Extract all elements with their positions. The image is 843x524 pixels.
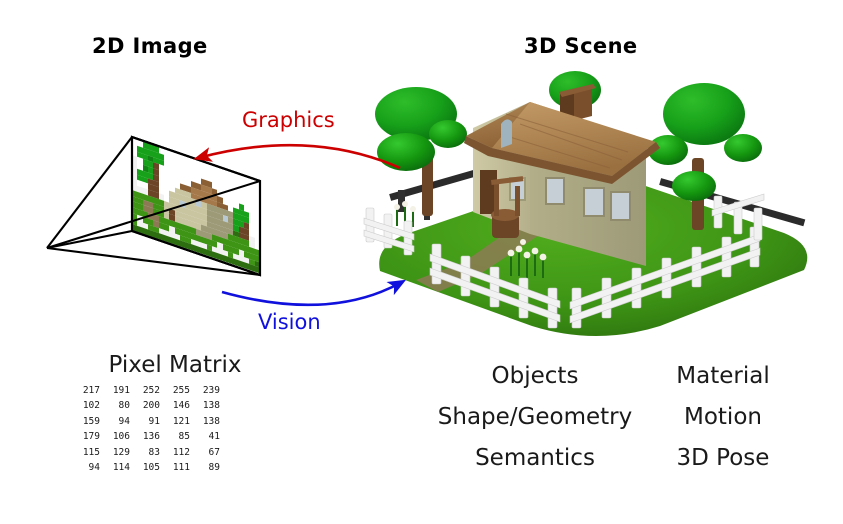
pixel-matrix-table: 2171912522552391028020014613815994911211… — [78, 384, 228, 476]
pixel-matrix-cell: 105 — [138, 461, 168, 476]
scene-property-motion: Motion — [648, 397, 798, 438]
frustum-plane-bottom-edge — [132, 231, 260, 275]
pixel-matrix-cell: 252 — [138, 384, 168, 399]
pixel-matrix-row: 9411410511189 — [78, 461, 228, 476]
pixel-matrix-cell: 94 — [78, 461, 108, 476]
frustum-ray-bottom-right — [47, 248, 260, 275]
window-r1 — [546, 178, 564, 204]
pixel-matrix-cell: 94 — [108, 415, 138, 430]
graphics-arrow-label: Graphics — [242, 108, 335, 132]
pixel-matrix-cell: 114 — [108, 461, 138, 476]
pixel-matrix-row: 1599491121138 — [78, 415, 228, 430]
scene-properties-column-right: MaterialMotion3D Pose — [648, 356, 798, 479]
pixel-matrix-cell: 111 — [168, 461, 198, 476]
pixel-matrix-block: Pixel Matrix 217191252255239102802001461… — [72, 352, 322, 476]
vision-arrow-label: Vision — [258, 310, 321, 334]
pixel-matrix-cell: 115 — [78, 446, 108, 461]
pixel-matrix-cell: 217 — [78, 384, 108, 399]
frustum-far-plane — [132, 137, 260, 275]
pixel-matrix-row: 1151298311267 — [78, 446, 228, 461]
pixel-matrix-cell: 138 — [198, 399, 228, 414]
tree-left — [375, 87, 467, 216]
pixel-matrix-cell: 83 — [138, 446, 168, 461]
pixel-matrix-cell: 136 — [138, 430, 168, 445]
pixel-matrix-cell: 89 — [198, 461, 228, 476]
page-title-3d-scene: 3D Scene — [524, 34, 638, 58]
pixel-matrix-row: 217191252255239 — [78, 384, 228, 399]
pixel-matrix-cell: 129 — [108, 446, 138, 461]
window-r2 — [584, 188, 604, 216]
pixel-matrix-cell: 146 — [168, 399, 198, 414]
scene-property-material: Material — [648, 356, 798, 397]
pixel-matrix-cell: 121 — [168, 415, 198, 430]
pixel-matrix-cell: 102 — [78, 399, 108, 414]
pixel-matrix-cell: 106 — [108, 430, 138, 445]
camera-frustum — [20, 120, 280, 280]
scene-property-objects: Objects — [430, 356, 640, 397]
scene-properties-column-left: ObjectsShape/GeometrySemantics — [430, 356, 640, 479]
pixel-matrix-cell: 191 — [108, 384, 138, 399]
pixel-matrix-row: 10280200146138 — [78, 399, 228, 414]
pixel-matrix-cell: 159 — [78, 415, 108, 430]
pixel-matrix-row: 1791061368541 — [78, 430, 228, 445]
page-title-2d-image: 2D Image — [92, 34, 208, 58]
pixel-matrix-title: Pixel Matrix — [80, 352, 270, 378]
pixel-matrix-cell: 91 — [138, 415, 168, 430]
frustum-ray-top-left — [47, 137, 132, 248]
pixel-matrix-cell: 138 — [198, 415, 228, 430]
attic-window — [501, 119, 512, 148]
figure-root: 2D Image 3D Scene — [0, 0, 843, 524]
scene-illustration — [360, 66, 830, 346]
frustum-wireframe — [20, 120, 280, 280]
frustum-plane-top-edge — [132, 137, 260, 181]
pixel-matrix-cell: 239 — [198, 384, 228, 399]
pixel-matrix-cell: 80 — [108, 399, 138, 414]
pixel-matrix-cell: 85 — [168, 430, 198, 445]
pixel-matrix-cell: 255 — [168, 384, 198, 399]
scene-property-semantics: Semantics — [430, 438, 640, 479]
white-picket-fence-left — [364, 208, 414, 255]
pixel-matrix-cell: 200 — [138, 399, 168, 414]
scene-property-3d-pose: 3D Pose — [648, 438, 798, 479]
pixel-matrix-cell: 67 — [198, 446, 228, 461]
pixel-matrix-cell: 41 — [198, 430, 228, 445]
scene-property-shape-geometry: Shape/Geometry — [430, 397, 640, 438]
pixel-matrix-cell: 112 — [168, 446, 198, 461]
pixel-matrix-cell: 179 — [78, 430, 108, 445]
window-r3 — [611, 192, 630, 220]
